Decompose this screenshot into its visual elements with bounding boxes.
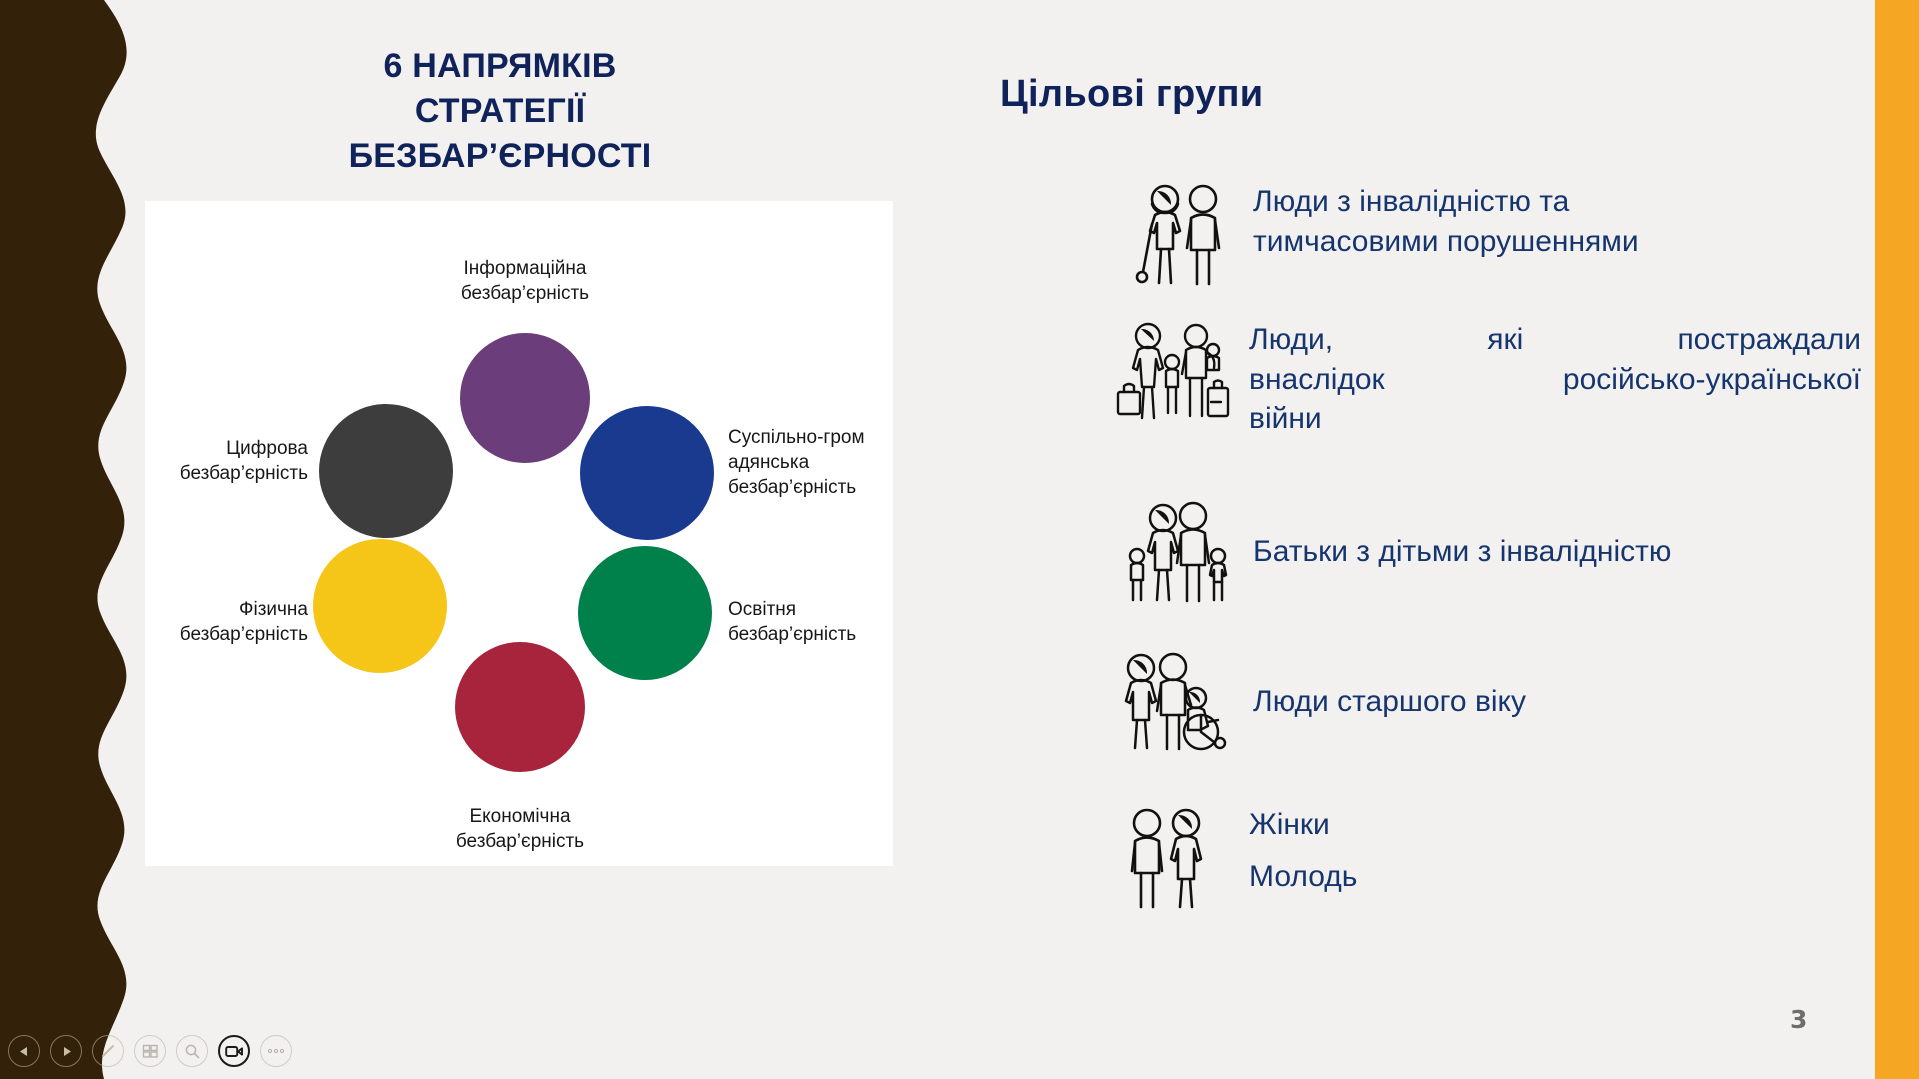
- presentation-toolbar: [8, 1031, 292, 1071]
- zoom-button[interactable]: [176, 1035, 208, 1067]
- left-wavy-band: [0, 0, 135, 1079]
- circle-physical: [313, 539, 447, 673]
- circle-digital: [319, 404, 453, 538]
- displaced-family-with-luggage-icon: [1111, 320, 1231, 424]
- list-item-label: Люди з інвалідністю та тимчасовими поруш…: [1235, 182, 1855, 261]
- list-item-label: Люди, які постраждали внаслідок російськ…: [1231, 320, 1861, 439]
- page-title: 6 НАПРЯМКІВ СТРАТЕГІЇ БЕЗБАР’ЄРНОСТІ: [270, 44, 730, 179]
- list-item: Люди старшого віку: [1115, 650, 1855, 754]
- list-item-line: Люди старшого віку: [1253, 682, 1855, 722]
- page-number: 3: [1790, 1005, 1807, 1034]
- slide-grid-button[interactable]: [134, 1035, 166, 1067]
- list-item-line: Батьки з дітьми з інвалідністю: [1253, 532, 1855, 572]
- man-and-woman-icon: [1111, 805, 1231, 911]
- list-item-label: Люди старшого віку: [1235, 682, 1855, 722]
- list-item-line: Жінки: [1249, 805, 1851, 845]
- list-item: Жінки Молодь: [1111, 805, 1851, 911]
- ellipsis-icon: [267, 1048, 285, 1054]
- list-item-line: війни: [1249, 399, 1861, 439]
- list-item-line: Молодь: [1249, 857, 1851, 897]
- caption-informational: Інформаційна безбар’єрність: [395, 256, 655, 306]
- older-people-with-wheelchair-icon: [1115, 650, 1235, 754]
- grid-icon: [142, 1043, 159, 1060]
- woman-and-man-with-disability-icon: [1115, 182, 1235, 286]
- target-groups-heading: Цільові групи: [1000, 73, 1263, 116]
- pen-icon: [99, 1042, 117, 1060]
- list-item: Люди з інвалідністю та тимчасовими поруш…: [1115, 182, 1855, 286]
- circle-economic: [455, 642, 585, 772]
- caption-digital: Цифрова безбар’єрність: [128, 436, 308, 486]
- next-slide-button[interactable]: [50, 1035, 82, 1067]
- list-item-line: тимчасовими порушеннями: [1253, 222, 1855, 262]
- triangle-right-icon: [60, 1045, 73, 1058]
- list-item: Люди, які постраждали внаслідок російськ…: [1111, 320, 1861, 439]
- list-item-line: Люди з інвалідністю та: [1253, 182, 1855, 222]
- presentation-slide: 6 НАПРЯМКІВ СТРАТЕГІЇ БЕЗБАР’ЄРНОСТІ Інф…: [0, 0, 1919, 1079]
- previous-slide-button[interactable]: [8, 1035, 40, 1067]
- list-item-line: Люди, які постраждали: [1249, 320, 1861, 360]
- list-item-line: внаслідок російсько-української: [1249, 360, 1861, 400]
- list-item: Батьки з дітьми з інвалідністю: [1115, 500, 1855, 604]
- family-with-children-icon: [1115, 500, 1235, 604]
- triangle-left-icon: [18, 1045, 31, 1058]
- magnifier-icon: [184, 1043, 201, 1060]
- list-item-label: Жінки Молодь: [1231, 805, 1851, 896]
- more-options-button[interactable]: [260, 1035, 292, 1067]
- circle-educational: [578, 546, 712, 680]
- camera-button[interactable]: [218, 1035, 250, 1067]
- circle-informational: [460, 333, 590, 463]
- barrier-free-directions-diagram: Інформаційна безбар’єрність Суспільно-гр…: [145, 201, 893, 866]
- caption-educational: Освітня безбар’єрність: [728, 597, 908, 647]
- circle-social-civic: [580, 406, 714, 540]
- caption-social-civic: Суспільно-гром адянська безбар’єрність: [728, 425, 908, 500]
- pen-button[interactable]: [92, 1035, 124, 1067]
- list-item-label: Батьки з дітьми з інвалідністю: [1235, 532, 1855, 572]
- caption-physical: Фізична безбар’єрність: [128, 597, 308, 647]
- right-accent-bar: [1875, 0, 1919, 1079]
- video-camera-icon: [225, 1044, 244, 1059]
- caption-economic: Економічна безбар’єрність: [390, 804, 650, 854]
